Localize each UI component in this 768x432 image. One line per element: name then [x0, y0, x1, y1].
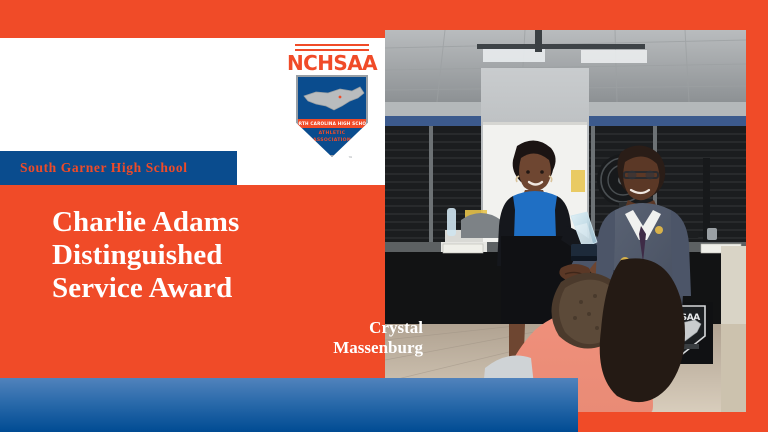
recipient-first-name: Crystal [150, 318, 423, 338]
trademark-symbol: ™ [348, 156, 353, 162]
bottom-accent-band [0, 378, 578, 432]
logo-shield: NORTH CAROLINA HIGH SCHOOL ATHLETIC ASSO… [296, 75, 368, 157]
logo-banner-text: NORTH CAROLINA HIGH SCHOOL [296, 121, 368, 126]
recipient-last-name: Massenburg [150, 338, 423, 358]
award-photo: NCHSAA [385, 30, 746, 412]
logo-subtitle-line2: ASSOCIATION [298, 138, 366, 145]
award-title-line-2: Distinguished [52, 239, 382, 272]
award-photo-illustration: NCHSAA [385, 30, 746, 412]
logo-stripe-top [295, 44, 369, 46]
logo-banner: NORTH CAROLINA HIGH SCHOOL [298, 119, 366, 128]
award-title-line-1: Charlie Adams [52, 206, 382, 239]
logo-subtitle: ATHLETIC ASSOCIATION [298, 131, 366, 144]
award-title-line-3: Service Award [52, 272, 382, 305]
logo-subtitle-line1: ATHLETIC [298, 131, 366, 138]
school-banner: South Garner High School [0, 151, 237, 185]
school-name: South Garner High School [0, 160, 188, 176]
nchsaa-logo: NCHSAA NORTH CAROLINA HIGH SCHOOL ATHLET… [286, 44, 378, 166]
logo-wordmark: NCHSAA [286, 53, 378, 73]
recipient-name: Crystal Massenburg [150, 318, 423, 358]
north-carolina-map-icon [302, 84, 366, 114]
slide-canvas: NCHSAA [0, 0, 768, 432]
award-title: Charlie Adams Distinguished Service Awar… [52, 206, 382, 304]
